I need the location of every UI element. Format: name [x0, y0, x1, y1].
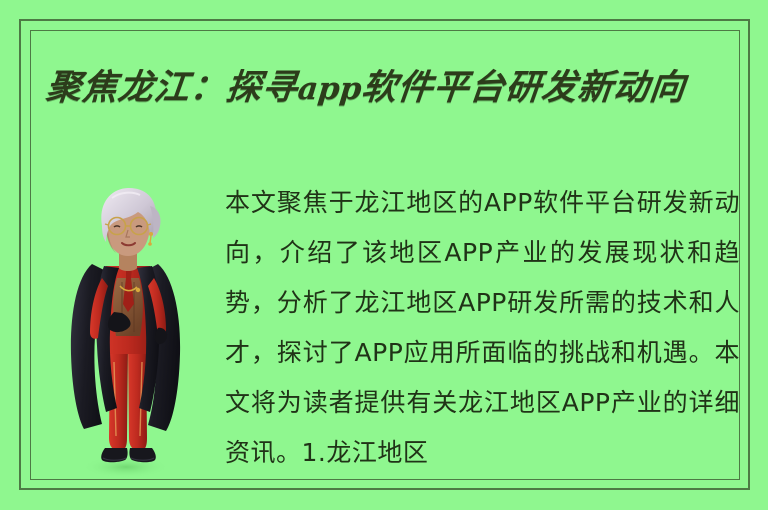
page-canvas: 聚焦龙江：探寻app软件平台研发新动向 本文聚焦于龙江地区的APP软件平台研发新…	[0, 0, 768, 510]
page-title: 聚焦龙江：探寻app软件平台研发新动向	[43, 58, 750, 120]
figure-ground-shadow	[82, 456, 170, 478]
title-suffix: 软件平台研发新动向	[359, 67, 687, 108]
article-body: 本文聚焦于龙江地区的APP软件平台研发新动向，介绍了该地区APP产业的发展现状和…	[225, 178, 740, 478]
earring-right-bead	[148, 242, 152, 246]
earring-right	[149, 232, 153, 236]
earring-right-drop	[150, 236, 151, 243]
character-illustration	[62, 186, 190, 481]
title-latin-app: app	[296, 71, 363, 107]
title-prefix: 聚焦龙江：探寻	[44, 67, 300, 108]
gold-pendant	[136, 288, 140, 292]
